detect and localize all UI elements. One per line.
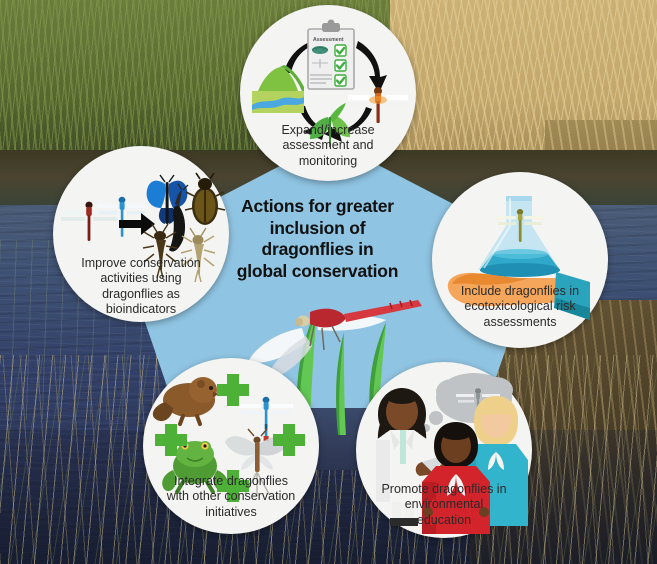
node-caption: Improve conservation activities using dr… <box>61 256 221 318</box>
node-education[interactable]: Promote dragonflies in environmental edu… <box>356 362 532 538</box>
caption-line-4: bioindicators <box>61 302 221 317</box>
caption-line-2: activities using <box>61 271 221 286</box>
caption-line-1: Integrate dragonflies <box>151 474 311 489</box>
caption-line-3: education <box>364 513 524 528</box>
caption-line-3: assessments <box>440 315 600 330</box>
beaver-icon <box>153 377 219 424</box>
center-title-line-1: Actions for greater <box>205 196 430 218</box>
node-bioindicators[interactable]: Improve conservation activities using dr… <box>53 146 229 322</box>
caption-line-3: initiatives <box>151 505 311 520</box>
caption-line-1: Promote dragonflies in <box>364 482 524 497</box>
infographic-canvas: Actions for greater inclusion of dragonf… <box>0 0 657 564</box>
clipboard-label: Assessment <box>313 37 344 43</box>
caption-line-2: ecotoxicological risk <box>440 299 600 314</box>
center-title: Actions for greater inclusion of dragonf… <box>205 196 430 283</box>
landscape-icon <box>252 65 304 113</box>
caption-line-1: Improve conservation <box>61 256 221 271</box>
caption-line-2: with other conservation <box>151 489 311 504</box>
clipboard-assessment-icon: Assessment <box>308 20 354 90</box>
caption-line-3: dragonflies as <box>61 287 221 302</box>
arrow-right-icon <box>119 213 155 235</box>
damselfly-icon <box>97 197 147 237</box>
caption-line-2: environmental <box>364 497 524 512</box>
center-title-line-4: global conservation <box>205 261 430 283</box>
caption-line-3: monitoring <box>248 154 408 169</box>
node-caption: Integrate dragonflies with other conserv… <box>151 474 311 520</box>
beetle-icon <box>185 173 225 225</box>
node-caption: Promote dragonflies in environmental edu… <box>364 482 524 528</box>
node-assessment[interactable]: Assessment <box>240 5 416 181</box>
caption-line-1: Expand/increase <box>248 123 408 138</box>
node-caption: Include dragonflies in ecotoxicological … <box>440 284 600 330</box>
node-caption: Expand/increase assessment and monitorin… <box>248 123 408 169</box>
center-title-line-2: inclusion of <box>205 218 430 240</box>
center-title-line-3: dragonflies in <box>205 239 430 261</box>
caption-line-2: assessment and <box>248 138 408 153</box>
dragonfly-icon <box>348 87 408 123</box>
node-ecotoxicology[interactable]: Include dragonflies in ecotoxicological … <box>432 172 608 348</box>
caption-line-1: Include dragonflies in <box>440 284 600 299</box>
node-integration[interactable]: Integrate dragonflies with other conserv… <box>143 358 319 534</box>
